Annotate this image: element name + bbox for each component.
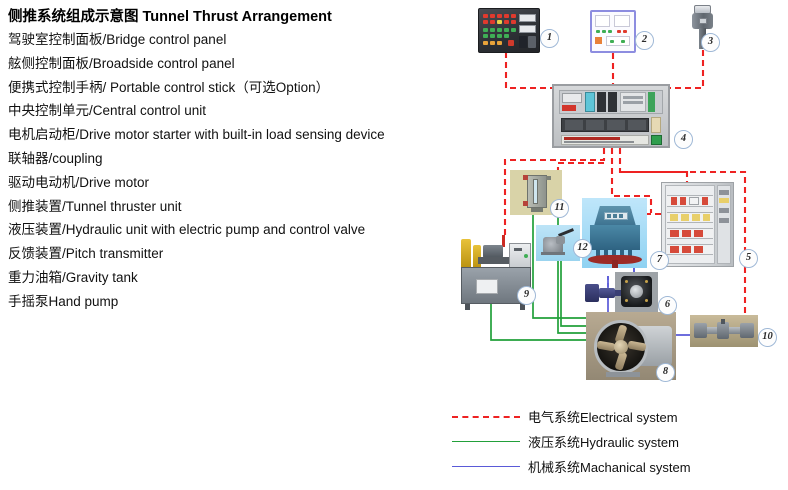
- key-swatch-hydraulic-icon: [452, 441, 520, 442]
- item-label-1: 驾驶室控制面板/Bridge control panel: [6, 28, 458, 52]
- component-badge-3: 3: [701, 33, 720, 52]
- key-swatch-mechanical-icon: [452, 466, 520, 467]
- component-badge-4: 4: [674, 130, 693, 149]
- component-image-broadside-control-panel[interactable]: [590, 10, 636, 53]
- component-badge-10: 10: [758, 328, 777, 347]
- component-badge-5: 5: [739, 249, 758, 268]
- item-label-11: 重力油箱/Gravity tank: [6, 266, 458, 290]
- key-label-electrical: 电气系统Electrical system: [528, 407, 678, 426]
- item-label-3: 便携式控制手柄/ Portable control stick（可选Option…: [6, 76, 458, 100]
- component-image-gearbox: [583, 278, 623, 308]
- diagram-key: 电气系统Electrical system 液压系统Hydraulic syst…: [452, 404, 788, 479]
- key-row-mechanical: 机械系统Machanical system: [452, 454, 788, 479]
- component-image-drive-motor[interactable]: [582, 198, 647, 268]
- item-label-4: 中央控制单元/Central control unit: [6, 99, 458, 123]
- key-label-hydraulic: 液压系统Hydraulic system: [528, 432, 679, 451]
- component-badge-11: 11: [550, 199, 569, 218]
- component-badge-12: 12: [573, 239, 592, 258]
- item-label-2: 舷侧控制面板/Broadside control panel: [6, 52, 458, 76]
- component-badge-8: 8: [656, 363, 675, 382]
- item-label-7: 驱动电动机/Drive motor: [6, 171, 458, 195]
- component-badge-7: 7: [650, 251, 669, 270]
- key-row-hydraulic: 液压系统Hydraulic system: [452, 429, 788, 454]
- key-row-electrical: 电气系统Electrical system: [452, 404, 788, 429]
- wire-electrical-4-to-11: [558, 163, 604, 200]
- component-image-central-control-unit[interactable]: [552, 84, 670, 148]
- text-column: 侧推系统组成示意图 Tunnel Thrust Arrangement 驾驶室控…: [6, 6, 458, 314]
- item-label-5: 电机启动柜/Drive motor starter with built-in …: [6, 123, 458, 147]
- item-label-12: 手摇泵Hand pump: [6, 290, 458, 314]
- key-swatch-electrical-icon: [452, 416, 520, 418]
- component-badge-9: 9: [517, 286, 536, 305]
- item-label-9: 液压装置/Hydraulic unit with electric pump a…: [6, 218, 458, 242]
- component-image-drive-motor-starter[interactable]: [661, 182, 734, 267]
- component-image-pitch-transmitter[interactable]: [690, 315, 758, 347]
- item-label-10: 反馈装置/Pitch transmitter: [6, 242, 458, 266]
- item-label-8: 侧推装置/Tunnel thruster unit: [6, 195, 458, 219]
- component-image-bridge-control-panel[interactable]: [478, 8, 540, 53]
- item-label-6: 联轴器/coupling: [6, 147, 458, 171]
- page-title: 侧推系统组成示意图 Tunnel Thrust Arrangement: [6, 6, 458, 28]
- component-badge-2: 2: [635, 31, 654, 50]
- component-badge-1: 1: [540, 29, 559, 48]
- key-label-mechanical: 机械系统Machanical system: [528, 457, 691, 476]
- component-badge-6: 6: [658, 296, 677, 315]
